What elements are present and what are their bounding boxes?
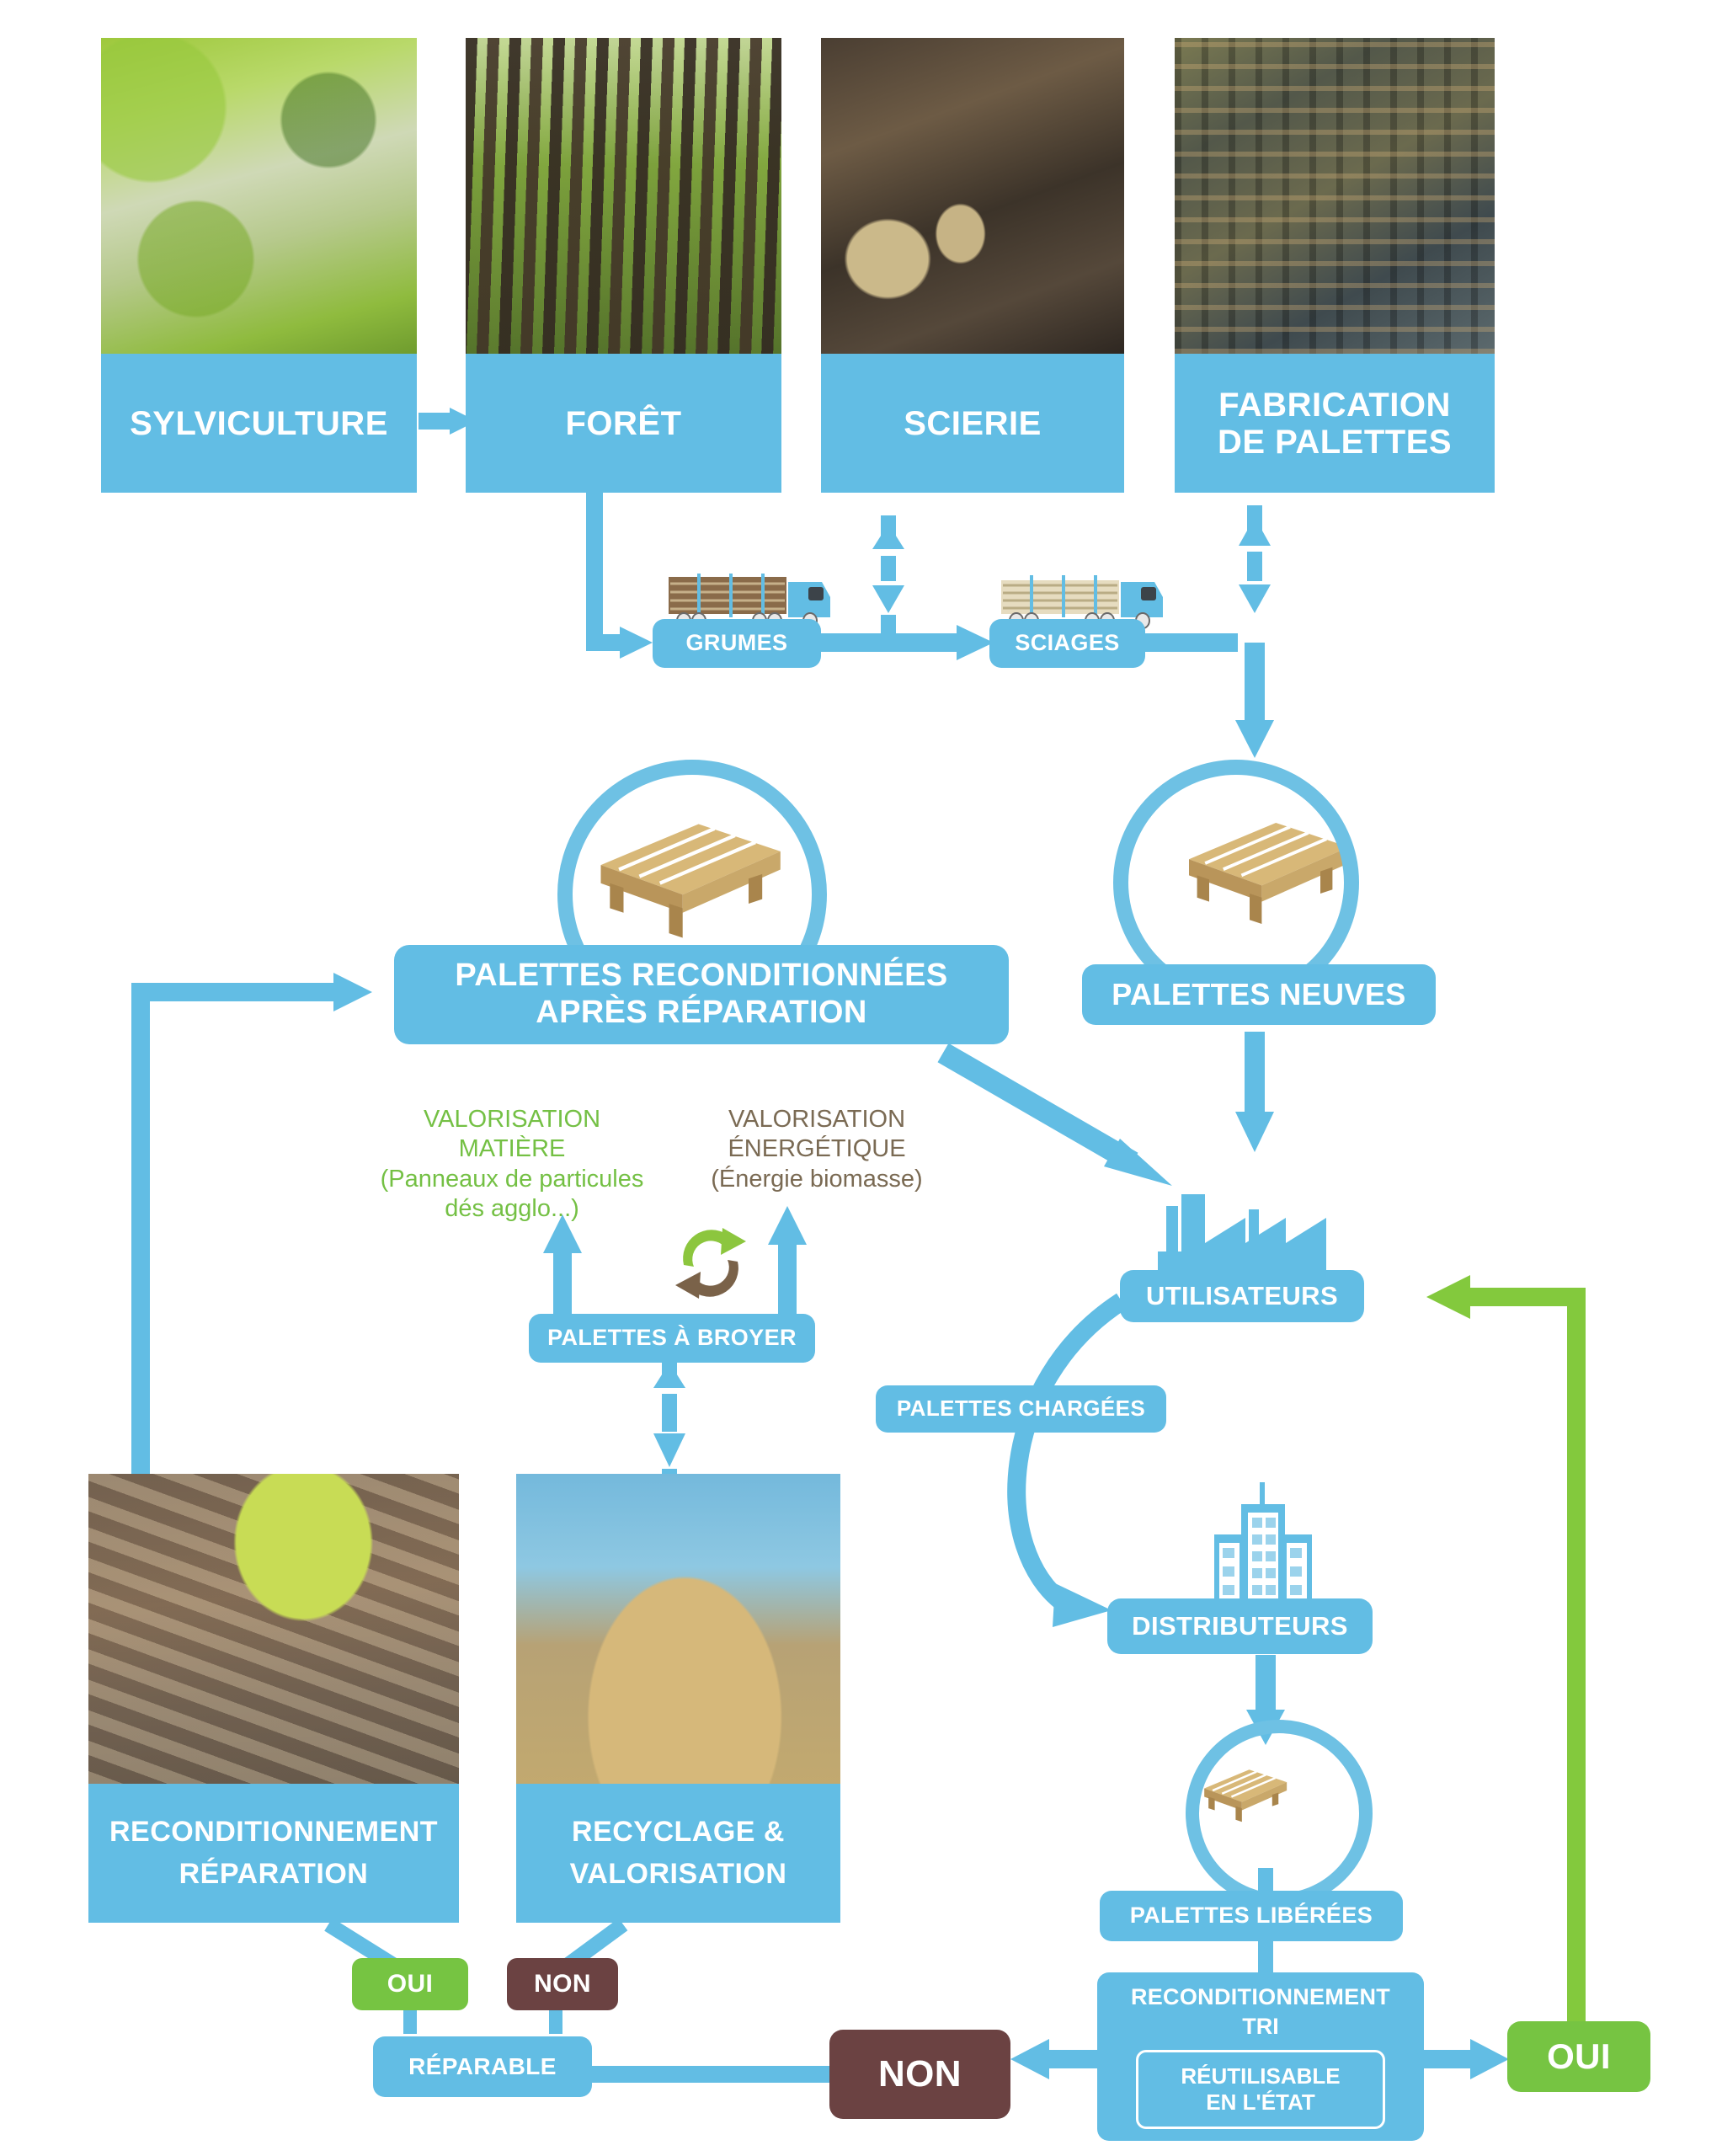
- pill-palettes-liberees[interactable]: PALETTES LIBÉRÉES: [1100, 1891, 1403, 1941]
- double-arrow-fabrication: [1239, 505, 1271, 613]
- valorisation-matiere-line2: MATIÈRE: [352, 1134, 672, 1164]
- pine-forest-photo: [466, 38, 781, 354]
- pill-palettes-neuves[interactable]: PALETTES NEUVES: [1082, 964, 1436, 1025]
- pill-oui-right-label: OUI: [1547, 2036, 1611, 2077]
- pill-utilisateurs-label: UTILISATEURS: [1146, 1281, 1338, 1311]
- seedling-photo: [101, 38, 417, 354]
- pallet-factory-photo: [1175, 38, 1495, 354]
- label-valorisation-energetique: VALORISATION ÉNERGÉTIQUE (Énergie biomas…: [678, 1105, 956, 1194]
- label-valorisation-matiere: VALORISATION MATIÈRE (Panneaux de partic…: [352, 1105, 672, 1225]
- pill-reconditionnees-line1: PALETTES RECONDITIONNÉES: [455, 958, 947, 995]
- caption-recyclage-valorisation[interactable]: RECYCLAGE & VALORISATION: [516, 1784, 840, 1923]
- arrow-broyer-valorisation-energetique: [768, 1206, 807, 1322]
- arrow-reconditionnees-utilisateurs: [943, 1053, 1172, 1186]
- arrow-green-return-utilisateurs: [1426, 1275, 1576, 2021]
- caption-scierie[interactable]: SCIERIE: [821, 354, 1124, 493]
- pill-non-left-label: NON: [534, 1970, 591, 1999]
- pill-reparable[interactable]: RÉPARABLE: [373, 2036, 592, 2097]
- pill-liberees-label: PALETTES LIBÉRÉES: [1130, 1903, 1373, 1929]
- caption-recyc-line1: RECYCLAGE &: [572, 1817, 785, 1848]
- caption-scierie-label: SCIERIE: [904, 405, 1042, 442]
- pill-grumes-label: GRUMES: [686, 630, 788, 656]
- valorisation-matiere-line3: (Panneaux de particules: [352, 1165, 672, 1194]
- pill-non-left[interactable]: NON: [507, 1958, 618, 2010]
- office-buildings-icon: [1214, 1482, 1312, 1614]
- arrow-utilisateurs-distributeurs: [1016, 1301, 1122, 1627]
- pill-grumes[interactable]: GRUMES: [653, 619, 821, 668]
- box-reutilisable-en-letat[interactable]: RÉUTILISABLE EN L'ÉTAT: [1136, 2050, 1385, 2129]
- pill-reparable-label: RÉPARABLE: [408, 2053, 557, 2080]
- arrow-palettes-neuves-utilisateurs: [1235, 1032, 1274, 1152]
- caption-sylviculture-label: SYLVICULTURE: [130, 405, 388, 442]
- arrow-foret-grumes: [594, 492, 653, 659]
- pill-oui-left-label: OUI: [387, 1970, 434, 1999]
- pill-distributeurs-label: DISTRIBUTEURS: [1132, 1611, 1348, 1641]
- pill-sciages-label: SCIAGES: [1015, 630, 1119, 656]
- caption-foret[interactable]: FORÊT: [466, 354, 781, 493]
- arrow-grumes-sciages: [821, 625, 994, 660]
- valorisation-energetique-line2: ÉNERGÉTIQUE: [678, 1134, 956, 1164]
- caption-sylviculture[interactable]: SYLVICULTURE: [101, 354, 417, 493]
- reutilisable-line2: EN L'ÉTAT: [1206, 2089, 1314, 2116]
- recycle-arrows-icon: [675, 1228, 746, 1299]
- caption-fabrication[interactable]: FABRICATION DE PALETTES: [1175, 354, 1495, 493]
- valorisation-matiere-line4: dés agglo...): [352, 1194, 672, 1224]
- caption-fabrication-line1: FABRICATION: [1218, 387, 1451, 424]
- box-reconditionnement-tri[interactable]: RECONDITIONNEMENT TRI RÉUTILISABLE EN L'…: [1097, 1972, 1424, 2141]
- pill-neuves-label: PALETTES NEUVES: [1112, 977, 1405, 1011]
- caption-recyc-line2: VALORISATION: [570, 1859, 787, 1890]
- pill-oui-right[interactable]: OUI: [1507, 2021, 1650, 2092]
- pill-utilisateurs[interactable]: UTILISATEURS: [1120, 1270, 1364, 1322]
- pill-chargees-label: PALETTES CHARGÉES: [897, 1396, 1145, 1422]
- pill-non-big[interactable]: NON: [829, 2030, 1010, 2119]
- pill-distributeurs[interactable]: DISTRIBUTEURS: [1107, 1598, 1373, 1654]
- recond-tri-line2: TRI: [1097, 2010, 1424, 2040]
- reutilisable-line1: RÉUTILISABLE: [1181, 2063, 1340, 2089]
- sawmill-photo: [821, 38, 1124, 354]
- pill-palettes-a-broyer[interactable]: PALETTES À BROYER: [529, 1314, 815, 1363]
- pill-sciages[interactable]: SCIAGES: [989, 619, 1145, 668]
- pill-non-big-label: NON: [878, 2053, 962, 2096]
- pill-palettes-chargees[interactable]: PALETTES CHARGÉES: [876, 1385, 1166, 1433]
- pill-reconditionnees-line2: APRÈS RÉPARATION: [536, 995, 866, 1032]
- arrow-recondtri-oui: [1423, 2039, 1509, 2079]
- arrow-broyer-valorisation-matiere: [543, 1214, 582, 1322]
- caption-recond-line1: RECONDITIONNEMENT: [109, 1817, 438, 1848]
- double-arrow-scierie: [872, 515, 904, 643]
- pill-oui-left[interactable]: OUI: [352, 1958, 468, 2010]
- arrow-fabrication-palettes-neuves: [1235, 643, 1274, 758]
- recond-tri-line1: RECONDITIONNEMENT: [1097, 1972, 1424, 2010]
- valorisation-matiere-line1: VALORISATION: [352, 1105, 672, 1134]
- pill-broyer-label: PALETTES À BROYER: [547, 1325, 797, 1351]
- caption-recond-line2: RÉPARATION: [179, 1859, 369, 1890]
- caption-fabrication-line2: DE PALETTES: [1218, 424, 1452, 461]
- arrow-recondtri-non: [1010, 2039, 1112, 2079]
- caption-reconditionnement-reparation[interactable]: RECONDITIONNEMENT RÉPARATION: [88, 1784, 459, 1923]
- woodchip-pile-photo: [516, 1474, 840, 1785]
- arrow-reparation-reconditionnees: [141, 973, 372, 1474]
- pill-palettes-reconditionnees[interactable]: PALETTES RECONDITIONNÉES APRÈS RÉPARATIO…: [394, 945, 1009, 1044]
- nailgun-repair-photo: [88, 1474, 459, 1785]
- valorisation-energetique-line3: (Énergie biomasse): [678, 1165, 956, 1194]
- valorisation-energetique-line1: VALORISATION: [678, 1105, 956, 1134]
- pallet-circle-liberees: [1186, 1720, 1373, 1907]
- caption-foret-label: FORÊT: [565, 405, 681, 442]
- diagram-canvas: SYLVICULTURE FORÊT SCIERIE FABRICATION D…: [0, 0, 1722, 2156]
